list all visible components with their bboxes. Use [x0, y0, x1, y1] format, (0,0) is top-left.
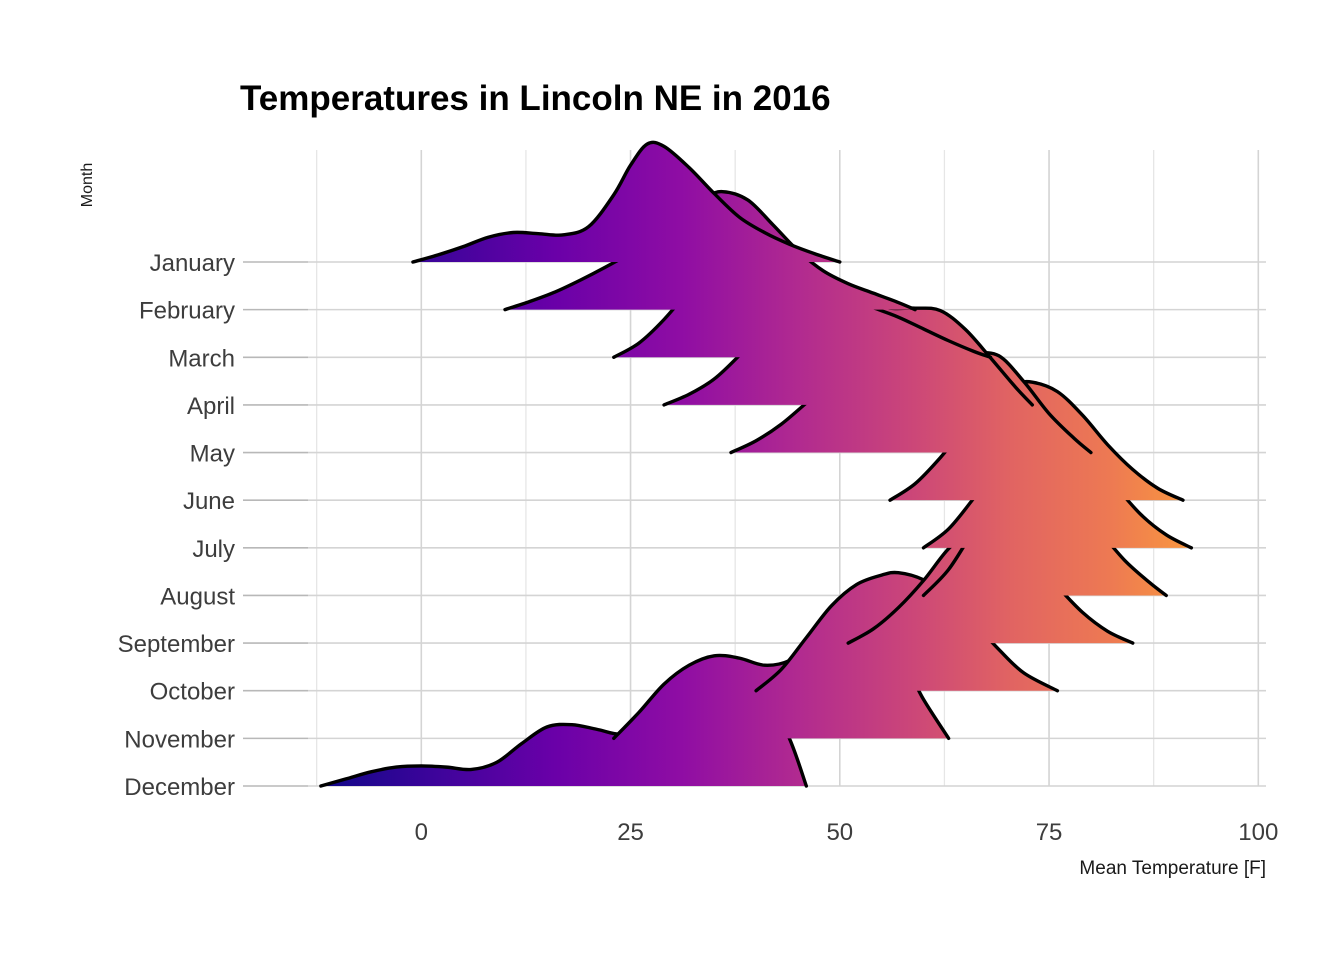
x-tick-label-25: 25	[617, 819, 644, 846]
y-tick-label-october: October	[150, 679, 235, 706]
y-axis-tickmarks	[243, 262, 308, 786]
y-tick-label-april: April	[187, 393, 235, 420]
y-tick-label-january: January	[150, 250, 235, 277]
x-tick-label-100: 100	[1238, 819, 1278, 846]
x-tick-label-50: 50	[826, 819, 853, 846]
y-tick-label-june: June	[183, 488, 235, 515]
chart-canvas: JanuaryFebruaryMarchAprilMayJuneJulyAugu…	[0, 0, 1344, 960]
ridgeline-chart-figure: JanuaryFebruaryMarchAprilMayJuneJulyAugu…	[0, 0, 1344, 960]
x-axis-title: Mean Temperature [F]	[1079, 858, 1266, 879]
y-tick-label-november: November	[124, 726, 235, 753]
y-axis-title: Month	[79, 163, 96, 207]
x-axis-tick-labels: 0255075100	[415, 819, 1279, 846]
x-tick-label-0: 0	[415, 819, 428, 846]
y-tick-label-august: August	[160, 583, 235, 610]
y-axis-tick-labels: JanuaryFebruaryMarchAprilMayJuneJulyAugu…	[118, 250, 236, 801]
y-tick-label-december: December	[124, 774, 235, 801]
chart-title: Temperatures in Lincoln NE in 2016	[240, 79, 831, 118]
y-tick-label-february: February	[139, 298, 235, 325]
y-tick-label-july: July	[192, 536, 235, 563]
y-tick-label-march: March	[168, 345, 235, 372]
y-tick-label-may: May	[190, 441, 235, 468]
x-tick-label-75: 75	[1036, 819, 1063, 846]
y-tick-label-september: September	[118, 631, 235, 658]
